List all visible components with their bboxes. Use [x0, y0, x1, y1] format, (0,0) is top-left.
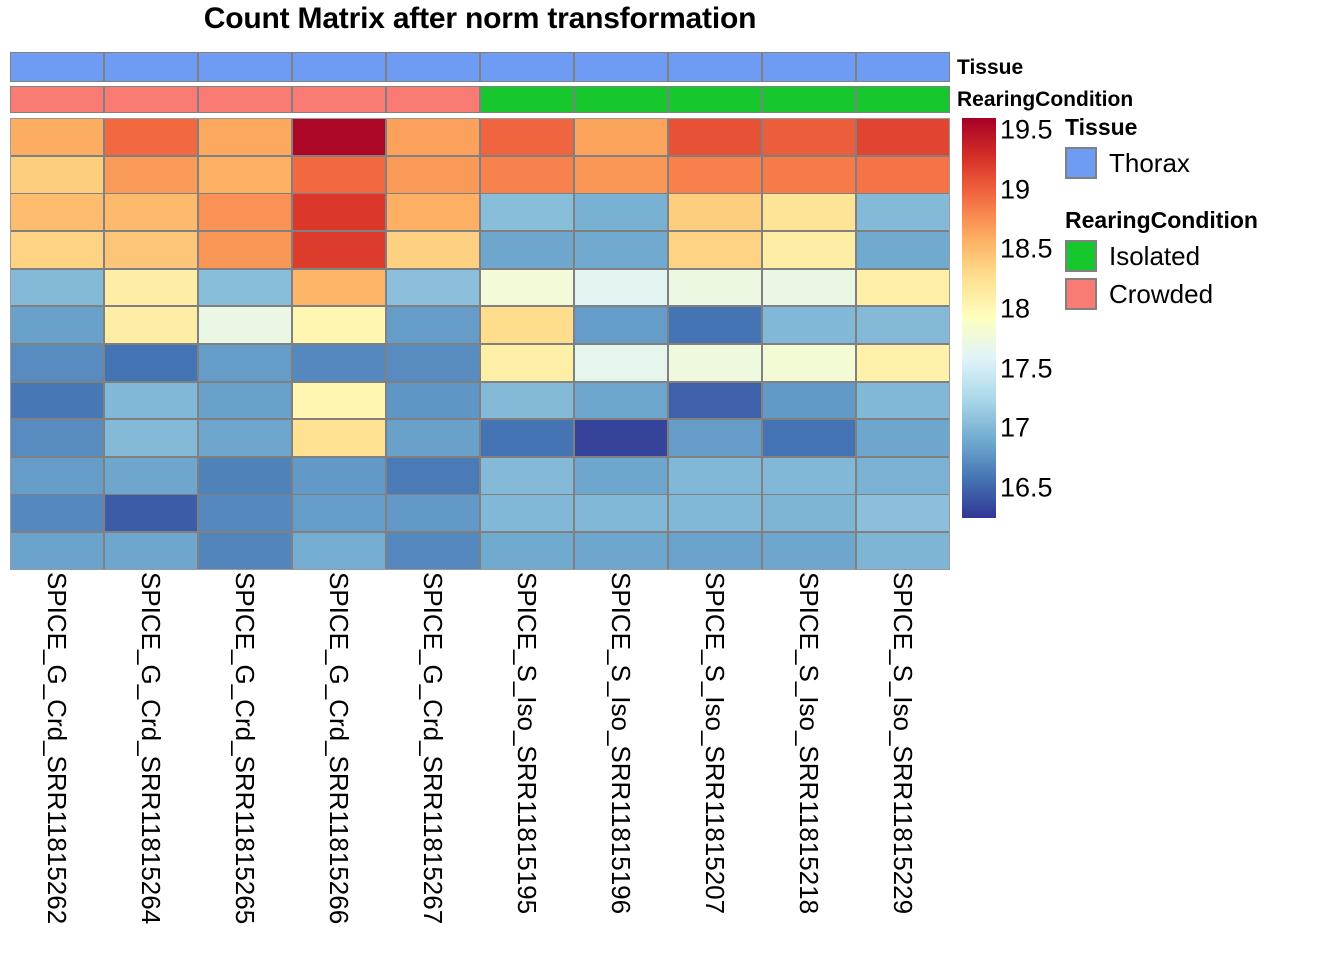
- heatmap-cell: [575, 307, 667, 343]
- heatmap-cell: [11, 232, 103, 268]
- heatmap-cell: [105, 458, 197, 494]
- heatmap-cell: [293, 270, 385, 306]
- rearing-annotation-cell: [387, 87, 479, 112]
- x-axis-label: SPICE_S_Iso_SRR11815207: [702, 572, 728, 914]
- rearing-annotation-cell: [575, 87, 667, 112]
- legend-swatch-isolated: [1065, 240, 1097, 272]
- heatmap-figure: Count Matrix after norm transformation T…: [0, 0, 1344, 960]
- heatmap-cell: [293, 232, 385, 268]
- heatmap-cell: [199, 383, 291, 419]
- legend-swatch-thorax: [1065, 147, 1097, 179]
- heatmap-cell: [387, 307, 479, 343]
- tissue-annotation-cell: [857, 53, 949, 81]
- heatmap-cell: [293, 157, 385, 193]
- x-axis-label: SPICE_G_Crd_SRR11815262: [44, 572, 70, 924]
- x-axis-label-slot: SPICE_S_Iso_SRR11815196: [574, 572, 668, 958]
- legend-rearing-condition: RearingCondition Isolated Crowded: [1065, 208, 1258, 313]
- heatmap-cell: [481, 194, 573, 230]
- heatmap-cell: [481, 270, 573, 306]
- heatmap-cell: [199, 495, 291, 531]
- rearing-annotation-cell: [763, 87, 855, 112]
- heatmap-cell: [387, 420, 479, 456]
- tissue-annotation-cell: [575, 53, 667, 81]
- heatmap-cell: [105, 533, 197, 569]
- heatmap-cell: [763, 119, 855, 155]
- heatmap-cell: [387, 345, 479, 381]
- heatmap-cell: [857, 533, 949, 569]
- heatmap-cell: [763, 495, 855, 531]
- legend-label-thorax: Thorax: [1109, 150, 1190, 176]
- heatmap-cell: [857, 194, 949, 230]
- heatmap-cell: [481, 232, 573, 268]
- heatmap-cell: [575, 270, 667, 306]
- heatmap-cell: [763, 307, 855, 343]
- heatmap-cell: [857, 119, 949, 155]
- heatmap-cell: [199, 232, 291, 268]
- heatmap-cell: [199, 157, 291, 193]
- heatmap-cell: [481, 533, 573, 569]
- heatmap-cell: [763, 194, 855, 230]
- heatmap-cell: [11, 157, 103, 193]
- heatmap-cell: [105, 495, 197, 531]
- colorbar: [962, 118, 996, 518]
- heatmap-cell: [199, 194, 291, 230]
- legend-item-isolated[interactable]: Isolated: [1065, 237, 1258, 275]
- heatmap-cell: [387, 194, 479, 230]
- x-axis-label: SPICE_S_Iso_SRR11815196: [608, 572, 634, 914]
- heatmap-cell: [105, 383, 197, 419]
- heatmap-cell: [669, 495, 761, 531]
- heatmap-cell: [763, 345, 855, 381]
- heatmap-cell: [669, 232, 761, 268]
- heatmap-cell: [575, 232, 667, 268]
- heatmap-cell: [669, 307, 761, 343]
- heatmap-cell: [293, 345, 385, 381]
- heatmap-cell: [293, 420, 385, 456]
- rearing-annotation-cell: [481, 87, 573, 112]
- heatmap-cell: [481, 307, 573, 343]
- heatmap-cell: [857, 383, 949, 419]
- heatmap-cell: [293, 458, 385, 494]
- legend-item-crowded[interactable]: Crowded: [1065, 275, 1258, 313]
- heatmap-cell: [481, 420, 573, 456]
- heatmap-cell: [199, 458, 291, 494]
- heatmap-cell: [669, 383, 761, 419]
- heatmap-cell: [857, 458, 949, 494]
- heatmap-cell: [105, 194, 197, 230]
- heatmap-cell: [105, 157, 197, 193]
- heatmap-cell: [387, 232, 479, 268]
- heatmap-cell: [575, 458, 667, 494]
- heatmap-cell: [669, 345, 761, 381]
- heatmap-cell: [763, 458, 855, 494]
- x-axis-label-slot: SPICE_S_Iso_SRR11815229: [856, 572, 950, 958]
- heatmap-cell: [763, 232, 855, 268]
- legend-swatch-crowded: [1065, 278, 1097, 310]
- heatmap-cell: [11, 495, 103, 531]
- heatmap-cell: [387, 495, 479, 531]
- heatmap-cell: [857, 232, 949, 268]
- heatmap-cell: [293, 533, 385, 569]
- heatmap-cell: [199, 119, 291, 155]
- colorbar-tick-label: 17.5: [1000, 355, 1053, 382]
- x-axis-label: SPICE_G_Crd_SRR11815266: [326, 572, 352, 924]
- heatmap-cell: [105, 420, 197, 456]
- heatmap-cell: [293, 119, 385, 155]
- x-axis-label-slot: SPICE_G_Crd_SRR11815266: [292, 572, 386, 958]
- heatmap-cell: [575, 533, 667, 569]
- heatmap-cell: [293, 495, 385, 531]
- x-axis-label: SPICE_G_Crd_SRR11815267: [420, 572, 446, 924]
- heatmap-cell: [293, 383, 385, 419]
- colorbar-tick-label: 18.5: [1000, 236, 1053, 263]
- heatmap-cell: [387, 533, 479, 569]
- heatmap-cell: [763, 420, 855, 456]
- heatmap-cell: [669, 458, 761, 494]
- x-axis-label: SPICE_S_Iso_SRR11815218: [796, 572, 822, 914]
- x-axis-labels: SPICE_G_Crd_SRR11815262SPICE_G_Crd_SRR11…: [10, 572, 950, 958]
- heatmap-grid: [10, 118, 950, 570]
- x-axis-label-slot: SPICE_G_Crd_SRR11815265: [198, 572, 292, 958]
- rearing-annotation-cell: [857, 87, 949, 112]
- tissue-annotation-cell: [105, 53, 197, 81]
- heatmap-cell: [11, 194, 103, 230]
- rearing-annotation-cell: [293, 87, 385, 112]
- heatmap-cell: [763, 383, 855, 419]
- heatmap-cell: [387, 383, 479, 419]
- heatmap-cell: [481, 119, 573, 155]
- rearing-annotation-bar: [10, 86, 950, 113]
- heatmap-cell: [105, 119, 197, 155]
- legend-item-thorax[interactable]: Thorax: [1065, 144, 1190, 182]
- heatmap-cell: [481, 458, 573, 494]
- colorbar-tick-labels: 19.51918.51817.51716.5: [1000, 118, 1070, 518]
- legend-label-isolated: Isolated: [1109, 243, 1200, 269]
- heatmap-cell: [105, 307, 197, 343]
- heatmap-cell: [481, 157, 573, 193]
- tissue-annotation-cell: [481, 53, 573, 81]
- rearing-annotation-label: RearingCondition: [957, 89, 1133, 110]
- heatmap-cell: [575, 194, 667, 230]
- heatmap-cell: [11, 383, 103, 419]
- rearing-annotation-cell: [105, 87, 197, 112]
- page-title: Count Matrix after norm transformation: [0, 2, 960, 36]
- colorbar-tick-label: 16.5: [1000, 475, 1053, 502]
- legend-tissue: Tissue Thorax: [1065, 115, 1190, 182]
- heatmap-cell: [669, 420, 761, 456]
- heatmap-cell: [669, 194, 761, 230]
- x-axis-label-slot: SPICE_G_Crd_SRR11815262: [10, 572, 104, 958]
- heatmap-cell: [199, 345, 291, 381]
- heatmap-cell: [481, 345, 573, 381]
- heatmap-cell: [857, 307, 949, 343]
- heatmap-cell: [575, 420, 667, 456]
- heatmap-cell: [857, 345, 949, 381]
- x-axis-label: SPICE_G_Crd_SRR11815264: [138, 572, 164, 924]
- heatmap-cell: [11, 307, 103, 343]
- heatmap-cell: [857, 495, 949, 531]
- heatmap-cell: [857, 420, 949, 456]
- x-axis-label-slot: SPICE_S_Iso_SRR11815195: [480, 572, 574, 958]
- heatmap-cell: [199, 307, 291, 343]
- legend-tissue-title: Tissue: [1065, 115, 1190, 140]
- heatmap-cell: [481, 383, 573, 419]
- heatmap-cell: [105, 345, 197, 381]
- heatmap-cell: [387, 270, 479, 306]
- x-axis-label: SPICE_G_Crd_SRR11815265: [232, 572, 258, 924]
- heatmap-cell: [575, 157, 667, 193]
- heatmap-cell: [669, 270, 761, 306]
- heatmap-cell: [11, 458, 103, 494]
- heatmap-cell: [763, 157, 855, 193]
- heatmap-cell: [11, 533, 103, 569]
- tissue-annotation-cell: [387, 53, 479, 81]
- tissue-annotation-bar: [10, 52, 950, 82]
- heatmap-cell: [575, 495, 667, 531]
- heatmap-cell: [481, 495, 573, 531]
- tissue-annotation-cell: [669, 53, 761, 81]
- heatmap-cell: [199, 270, 291, 306]
- heatmap-cell: [11, 119, 103, 155]
- tissue-annotation-cell: [293, 53, 385, 81]
- heatmap-cell: [575, 119, 667, 155]
- rearing-annotation-cell: [199, 87, 291, 112]
- tissue-annotation-label: Tissue: [957, 57, 1023, 78]
- heatmap-cell: [105, 232, 197, 268]
- rearing-annotation-cell: [11, 87, 103, 112]
- colorbar-tick-label: 19: [1000, 176, 1030, 203]
- tissue-annotation-cell: [11, 53, 103, 81]
- heatmap-cell: [11, 420, 103, 456]
- heatmap-cell: [575, 383, 667, 419]
- x-axis-label-slot: SPICE_G_Crd_SRR11815264: [104, 572, 198, 958]
- tissue-annotation-cell: [763, 53, 855, 81]
- colorbar-gradient: [962, 118, 996, 518]
- heatmap-cell: [387, 157, 479, 193]
- legend-label-crowded: Crowded: [1109, 281, 1213, 307]
- heatmap-cell: [857, 157, 949, 193]
- rearing-annotation-cell: [669, 87, 761, 112]
- heatmap-cell: [387, 119, 479, 155]
- colorbar-tick-label: 19.5: [1000, 116, 1053, 143]
- heatmap-cell: [293, 194, 385, 230]
- heatmap-cell: [11, 270, 103, 306]
- heatmap-cell: [199, 420, 291, 456]
- x-axis-label-slot: SPICE_S_Iso_SRR11815218: [762, 572, 856, 958]
- heatmap-cell: [199, 533, 291, 569]
- heatmap-cell: [387, 458, 479, 494]
- heatmap-cell: [105, 270, 197, 306]
- x-axis-label-slot: SPICE_G_Crd_SRR11815267: [386, 572, 480, 958]
- heatmap-cell: [669, 533, 761, 569]
- heatmap-cell: [11, 345, 103, 381]
- heatmap-cell: [669, 119, 761, 155]
- heatmap-cell: [293, 307, 385, 343]
- x-axis-label: SPICE_S_Iso_SRR11815229: [890, 572, 916, 914]
- heatmap-cell: [669, 157, 761, 193]
- x-axis-label-slot: SPICE_S_Iso_SRR11815207: [668, 572, 762, 958]
- heatmap-cell: [763, 270, 855, 306]
- heatmap-cell: [763, 533, 855, 569]
- heatmap-cell: [575, 345, 667, 381]
- x-axis-label: SPICE_S_Iso_SRR11815195: [514, 572, 540, 914]
- colorbar-tick-label: 17: [1000, 415, 1030, 442]
- tissue-annotation-cell: [199, 53, 291, 81]
- heatmap-cell: [857, 270, 949, 306]
- colorbar-tick-label: 18: [1000, 296, 1030, 323]
- legend-rearing-title: RearingCondition: [1065, 208, 1258, 233]
